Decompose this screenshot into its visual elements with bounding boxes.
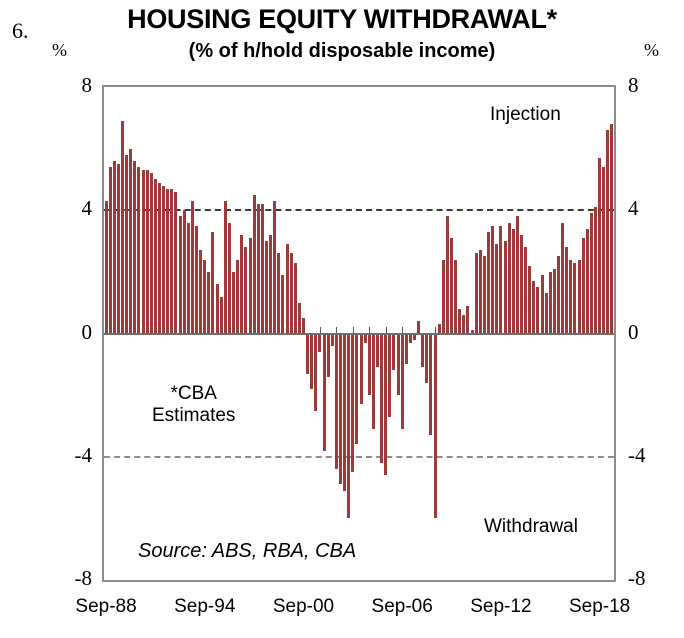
bar [512,229,515,334]
bar [602,167,605,333]
bar [318,334,321,352]
bar [187,223,190,334]
bar [228,223,231,334]
bar [405,334,408,365]
bar [257,204,260,333]
bar [290,253,293,333]
zero-line [104,333,614,335]
bar [528,266,531,334]
bar [240,235,243,334]
bar [409,334,412,343]
bar [380,334,383,463]
bar [195,226,198,334]
gridline-4 [104,209,614,211]
bar [125,155,128,334]
bar [549,272,552,334]
bar [372,334,375,430]
y-axis-unit-right: % [644,40,659,61]
bar [569,260,572,334]
bar [105,201,108,333]
bar [446,216,449,333]
annotation-withdrawal: Withdrawal [484,516,578,538]
bar [368,334,371,396]
bar [224,201,227,333]
y-axis-unit-left: % [52,40,67,61]
bar [253,195,256,334]
bar [137,167,140,333]
bar [109,167,112,333]
bar [298,303,301,334]
bar [113,161,116,334]
bar [211,232,214,334]
bar [294,263,297,334]
bar [306,334,309,374]
y-tick-label-right: -4 [628,443,674,468]
x-tick-label: Sep-00 [273,596,334,618]
y-tick-label-right: 8 [628,73,674,98]
bar [479,250,482,333]
annotation-injection: Injection [490,104,561,126]
bar [265,241,268,333]
x-tick-label: Sep-12 [470,596,531,618]
bar [129,149,132,334]
bar [458,309,461,334]
bar [462,315,465,333]
bar [536,287,539,333]
bar [273,201,276,333]
bar [553,269,556,334]
bar [499,226,502,334]
gridline-neg4 [104,456,614,458]
bar [578,260,581,334]
annotation-source: Source: ABS, RBA, CBA [138,540,356,563]
bar [232,272,235,334]
bar [475,253,478,333]
bar [191,201,194,333]
bar [286,244,289,333]
bar [524,247,527,333]
bar [351,334,354,473]
annotation-footnote: *CBA Estimates [152,383,235,427]
y-tick-label-left: -4 [46,443,92,468]
bar [355,334,358,445]
bar [565,247,568,333]
bar [249,238,252,334]
bar [236,260,239,334]
y-tick-label-left: 4 [46,196,92,221]
y-tick-label-left: -8 [46,566,92,591]
bar [183,210,186,333]
bar [343,334,346,491]
bar [310,334,313,389]
bar [401,334,404,430]
bar [376,334,379,368]
bar [561,223,564,334]
bar [335,334,338,470]
bar [598,158,601,334]
bar [360,334,363,405]
plot-inner [104,87,614,580]
bar [117,164,120,333]
bar [133,161,136,334]
bar [269,235,272,334]
bar [504,241,507,333]
bar [327,334,330,377]
bar [516,216,519,333]
y-tick-label-right: 0 [628,320,674,345]
bar [121,121,124,334]
bar [158,183,161,334]
bar [594,207,597,333]
plot-area [102,85,616,582]
bar [207,272,210,334]
bar [545,293,548,333]
bar [203,260,206,334]
bar [154,179,157,333]
bar [364,334,367,343]
bar [142,170,145,333]
bar [454,260,457,334]
bar [541,275,544,334]
bar [429,334,432,436]
chart-title: HOUSING EQUITY WITHDRAWAL* [0,4,684,35]
bar [277,253,280,333]
bar [323,334,326,451]
x-tick-label: Sep-18 [569,596,630,618]
bar [586,229,589,334]
bar [590,213,593,333]
y-tick-label-left: 8 [46,73,92,98]
bar [450,238,453,334]
bar [487,232,490,334]
bar [491,226,494,334]
bar [520,235,523,334]
bar [397,334,400,396]
bar [582,238,585,334]
bar [442,260,445,334]
bar [166,189,169,334]
x-tick-label: Sep-88 [75,596,136,618]
bar [314,334,317,411]
bar [425,334,428,383]
bar [331,334,334,346]
bar [281,275,284,334]
bar [199,250,202,333]
y-tick-label-right: 4 [628,196,674,221]
bar [179,216,182,333]
bar [557,256,560,333]
bar [573,263,576,334]
bar [261,204,264,333]
chart-subtitle: (% of h/hold disposable income) [0,40,684,63]
bar [146,170,149,333]
bar [495,244,498,333]
bar [606,130,609,333]
bar [434,334,437,519]
bar [483,256,486,333]
chart-figure: 6. HOUSING EQUITY WITHDRAWAL* (% of h/ho… [0,0,684,638]
bar [339,334,342,485]
bar [610,124,613,334]
bar [508,223,511,334]
x-tick-label: Sep-06 [372,596,433,618]
bar [174,192,177,334]
bar [170,189,173,334]
bar [216,284,219,333]
y-tick-label-left: 0 [46,320,92,345]
bar [150,173,153,333]
bar [347,334,350,519]
bar [162,186,165,334]
y-tick-label-right: -8 [628,566,674,591]
bar [421,334,424,368]
bar [244,247,247,333]
bar [392,334,395,371]
x-tick-label: Sep-94 [174,596,235,618]
bar [384,334,387,476]
bar [388,334,391,417]
